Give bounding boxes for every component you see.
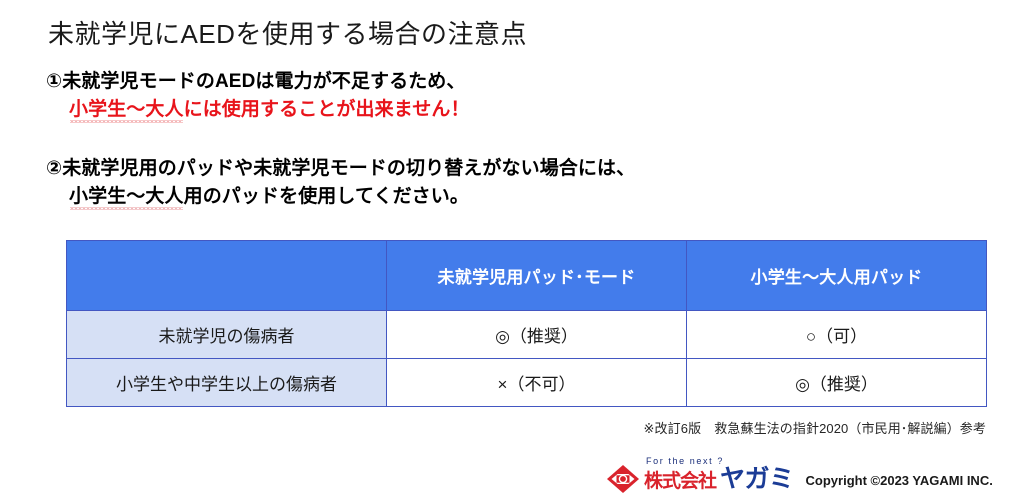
table-header: 未就学児用パッド･モード 小学生～大人用パッド [67,241,987,311]
note-2-line-1-text: 未就学児用のパッドや未就学児モードの切り替えがない場合には、 [62,158,635,179]
page-title: 未就学児にAEDを使用する場合の注意点 [48,14,527,51]
note-2-marker: ② [46,158,62,179]
note-1-line-2-text: には使用することが出来ません！ [184,99,470,120]
copyright-text: Copyright ©2023 YAGAMI INC. [806,473,993,488]
table-cell-r1c2: ○（可） [687,311,987,359]
note-item-1: ①未就学児モードのAEDは電力が不足するため、 小学生～大人には使用することが出… [46,68,470,123]
comparison-table-container: 未就学児用パッド･モード 小学生～大人用パッド 未就学児の傷病者 ◎（推奨） ○… [66,240,986,406]
note-1-line-1-text: 未就学児モードのAEDは電力が不足するため、 [62,71,465,92]
table-row: 小学生や中学生以上の傷病者 ×（不可） ◎（推奨） [67,359,987,407]
note-1-line-2: 小学生～大人には使用することが出来ません！ [46,96,470,124]
table-row: 未就学児の傷病者 ◎（推奨） ○（可） [67,311,987,359]
table-header-row: 未就学児用パッド･モード 小学生～大人用パッド [67,241,987,311]
footer: For the next ? 株式会社 ヤガミ Copyright ©2023 … [606,458,993,492]
table-row-header-preschool-patient: 未就学児の傷病者 [67,311,387,359]
yagami-diamond-logo-icon [606,464,640,494]
note-2-line-1: ②未就学児用のパッドや未就学児モードの切り替えがない場合には、 [46,155,635,183]
table-corner-header [67,241,387,311]
table-body: 未就学児の傷病者 ◎（推奨） ○（可） 小学生や中学生以上の傷病者 ×（不可） … [67,311,987,407]
note-1-line-1: ①未就学児モードのAEDは電力が不足するため、 [46,68,470,96]
note-2-line-2-text: 用のパッドを使用してください。 [184,186,469,207]
note-1-emphasis: 小学生～大人 [69,99,184,120]
table-column-header-adult: 小学生～大人用パッド [687,241,987,311]
table-cell-r2c1: ×（不可） [387,359,687,407]
note-1-marker: ① [46,71,62,92]
table-row-header-school-age-patient: 小学生や中学生以上の傷病者 [67,359,387,407]
table-cell-r1c1: ◎（推奨） [387,311,687,359]
comparison-table: 未就学児用パッド･モード 小学生～大人用パッド 未就学児の傷病者 ◎（推奨） ○… [66,240,987,407]
table-column-header-pediatric: 未就学児用パッド･モード [387,241,687,311]
logo-company-prefix: 株式会社 [644,472,716,491]
logo-company-line: 株式会社 ヤガミ [644,467,794,492]
note-item-2: ②未就学児用のパッドや未就学児モードの切り替えがない場合には、 小学生～大人用の… [46,155,635,210]
source-footnote: ※改訂6版 救急蘇生法の指針2020（市民用･解説編）参考 [644,418,986,437]
logo-company-name: ヤガミ [720,467,794,492]
yagami-logotype: For the next ? 株式会社 ヤガミ [644,457,794,492]
note-2-emphasis: 小学生～大人 [69,186,184,207]
table-cell-r2c2: ◎（推奨） [687,359,987,407]
note-2-line-2: 小学生～大人用のパッドを使用してください。 [46,183,635,211]
